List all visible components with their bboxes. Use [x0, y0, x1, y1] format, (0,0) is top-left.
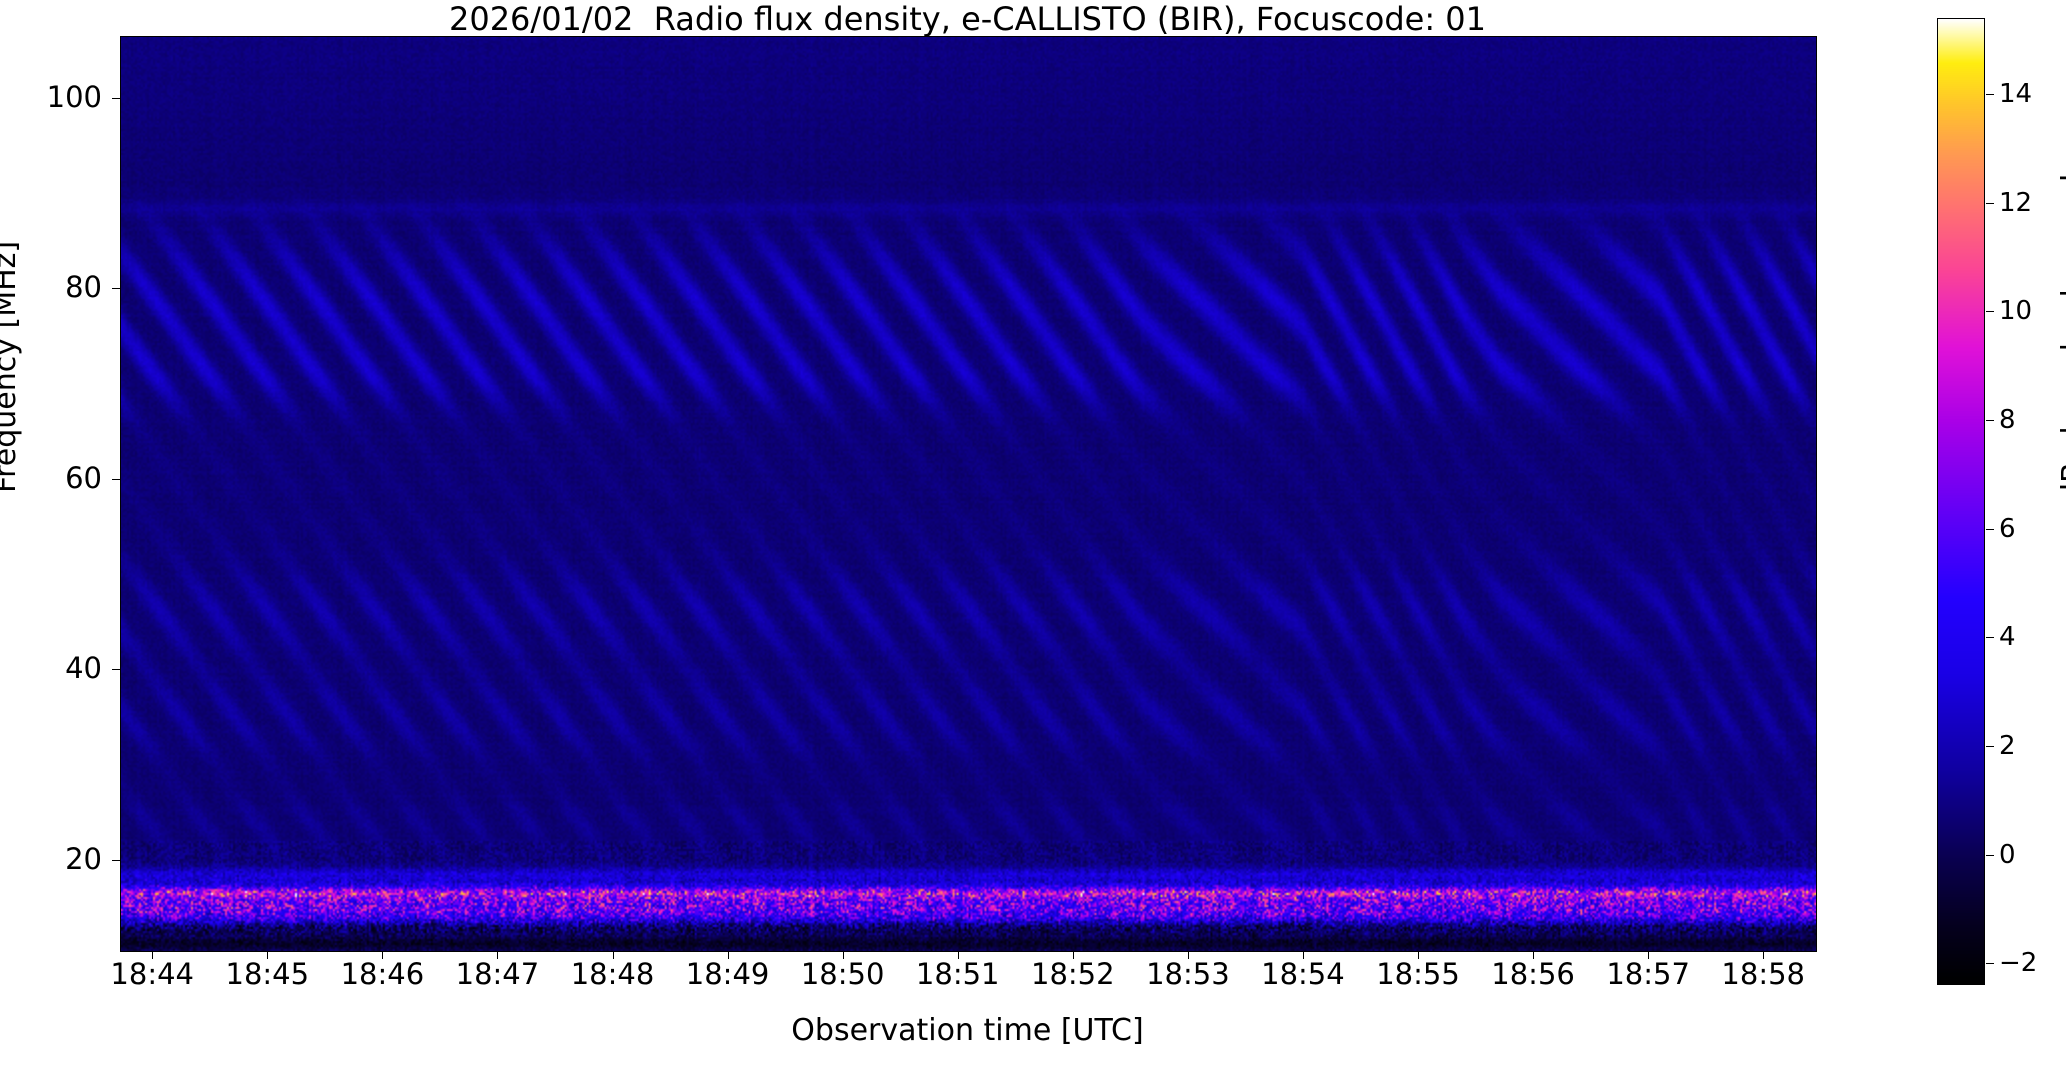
page-title: 2026/01/02 Radio flux density, e-CALLIST… [120, 2, 1815, 36]
spectrogram-figure: 2026/01/02 Radio flux density, e-CALLIST… [0, 0, 2066, 1067]
y-tick-label: 80 [0, 273, 102, 302]
colorbar-tick-mark [1986, 529, 1994, 530]
x-tick-label: 18:52 [1031, 960, 1115, 989]
colorbar-tick-label: 8 [1999, 407, 2016, 433]
colorbar-tick-label: −2 [1999, 950, 2037, 976]
colorbar-tick-label: 14 [1999, 81, 2032, 107]
y-tick-label: 40 [0, 654, 102, 683]
colorbar-tick-label: 0 [1999, 842, 2016, 868]
colorbar-tick-mark [1986, 963, 1994, 964]
colorbar-tick-mark [1986, 420, 1994, 421]
spectrogram-plot-area[interactable] [120, 36, 1817, 952]
y-tick-mark [112, 288, 120, 289]
colorbar-tick-mark [1986, 94, 1994, 95]
colorbar-tick-label: 10 [1999, 298, 2032, 324]
y-tick-label: 60 [0, 464, 102, 493]
x-tick-label: 18:54 [1261, 960, 1345, 989]
colorbar-tick-label: 2 [1999, 733, 2016, 759]
x-tick-label: 18:49 [686, 960, 770, 989]
colorbar-tick-mark [1986, 637, 1994, 638]
y-tick-mark [112, 98, 120, 99]
colorbar-tick-mark [1986, 746, 1994, 747]
colorbar[interactable] [1937, 18, 1985, 985]
y-tick-mark [112, 479, 120, 480]
spectrogram-image [121, 37, 1816, 951]
colorbar-tick-label: 12 [1999, 190, 2032, 216]
x-tick-label: 18:57 [1606, 960, 1690, 989]
x-tick-label: 18:55 [1376, 960, 1460, 989]
x-tick-label: 18:56 [1491, 960, 1575, 989]
colorbar-label: dB above background [2056, 174, 2066, 502]
x-tick-label: 18:46 [341, 960, 425, 989]
colorbar-tick-label: 4 [1999, 624, 2016, 650]
colorbar-gradient [1937, 18, 1985, 985]
y-tick-mark [112, 860, 120, 861]
x-tick-label: 18:45 [225, 960, 309, 989]
x-tick-label: 18:50 [801, 960, 885, 989]
colorbar-tick-label: 6 [1999, 516, 2016, 542]
x-tick-label: 18:48 [571, 960, 655, 989]
x-tick-label: 18:44 [110, 960, 194, 989]
colorbar-tick-mark [1986, 311, 1994, 312]
y-tick-label: 20 [0, 845, 102, 874]
colorbar-tick-mark [1986, 855, 1994, 856]
y-tick-label: 100 [0, 83, 102, 112]
x-tick-label: 18:53 [1146, 960, 1230, 989]
y-tick-mark [112, 669, 120, 670]
x-tick-label: 18:58 [1721, 960, 1805, 989]
x-tick-label: 18:47 [456, 960, 540, 989]
x-tick-label: 18:51 [916, 960, 1000, 989]
colorbar-tick-mark [1986, 203, 1994, 204]
x-axis-label: Observation time [UTC] [120, 1013, 1815, 1048]
